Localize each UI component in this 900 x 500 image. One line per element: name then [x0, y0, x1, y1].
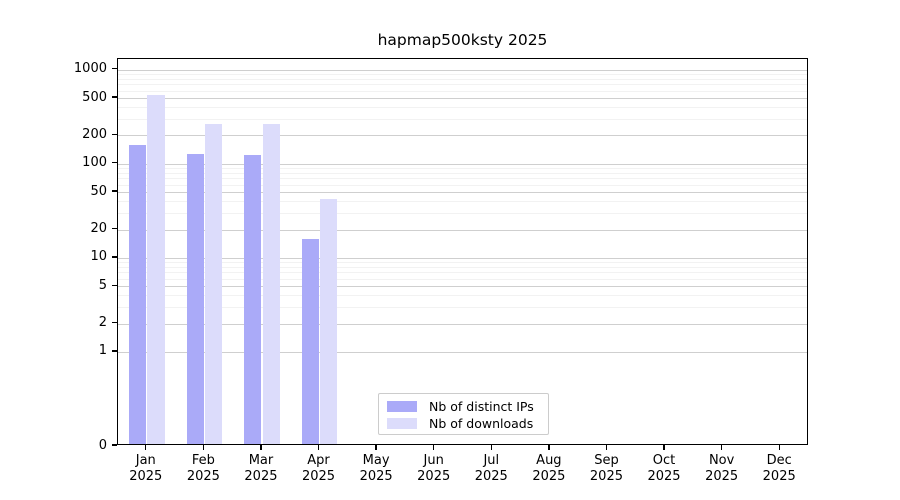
legend-item-label: Nb of distinct IPs: [429, 400, 534, 413]
bar-downloads: [320, 199, 337, 444]
legend-item-distinct-ips: Nb of distinct IPs: [387, 399, 540, 414]
y-axis-tick-label: 50: [59, 185, 107, 198]
y-axis-tick: [112, 190, 117, 191]
y-axis-label-wrap: 200: [55, 128, 107, 141]
x-axis-tick: [548, 445, 549, 450]
y-axis-label-wrap: 1000: [55, 62, 107, 75]
y-axis-tick-label: 500: [59, 91, 107, 104]
y-axis-tick: [112, 68, 117, 69]
y-axis-tick: [112, 256, 117, 257]
y-axis-tick: [112, 285, 117, 286]
bar-distinct-ips: [129, 145, 146, 444]
x-axis-tick: [779, 445, 780, 450]
y-axis-tick: [112, 134, 117, 135]
x-axis-tick: [318, 445, 319, 450]
x-axis-tick: [260, 445, 261, 450]
bar-downloads: [147, 95, 164, 444]
y-axis-label-wrap: 2: [55, 316, 107, 329]
x-axis-tick-year: 2025: [744, 469, 814, 485]
x-axis-tick: [721, 445, 722, 450]
x-axis-tick: [145, 445, 146, 450]
y-axis-label-wrap: 100: [55, 156, 107, 169]
y-axis-tick: [112, 228, 117, 229]
y-axis-tick-label: 1: [59, 344, 107, 357]
x-axis-tick: [491, 445, 492, 450]
bar-distinct-ips: [302, 239, 319, 444]
plot-area: [117, 58, 808, 445]
y-axis-tick: [112, 162, 117, 163]
x-axis-tick: [606, 445, 607, 450]
bars-layer: [118, 59, 807, 444]
y-axis-tick-label: 1000: [59, 62, 107, 75]
y-axis-label-wrap: 10: [55, 250, 107, 263]
legend-swatch-icon: [387, 401, 417, 412]
bar-downloads: [263, 124, 280, 444]
x-axis: Jan2025Feb2025Mar2025Apr2025May2025Jun20…: [0, 445, 900, 500]
y-axis-label-wrap: 5: [55, 279, 107, 292]
chart-legend: Nb of distinct IPs Nb of downloads: [378, 393, 549, 435]
y-axis-label-wrap: 1: [55, 344, 107, 357]
y-axis-label-wrap: 50: [55, 185, 107, 198]
bar-distinct-ips: [244, 155, 261, 444]
x-axis-tick: [433, 445, 434, 450]
y-axis-tick: [112, 96, 117, 97]
x-axis-tick: [203, 445, 204, 450]
x-axis-tick: [663, 445, 664, 450]
y-axis-tick-label: 20: [59, 222, 107, 235]
bar-downloads: [205, 124, 222, 444]
chart-container: hapmap500ksty 2025 012510205010020050010…: [0, 0, 900, 500]
legend-swatch-icon: [387, 418, 417, 429]
chart-title: hapmap500ksty 2025: [117, 30, 808, 50]
x-axis-tick: [375, 445, 376, 450]
y-axis-tick-label: 2: [59, 316, 107, 329]
y-axis-tick-label: 5: [59, 279, 107, 292]
y-axis-tick-label: 10: [59, 250, 107, 263]
y-axis-tick-label: 200: [59, 128, 107, 141]
y-axis-tick-label: 100: [59, 156, 107, 169]
y-axis-tick: [112, 322, 117, 323]
legend-item-downloads: Nb of downloads: [387, 416, 540, 431]
y-axis-label-wrap: 500: [55, 91, 107, 104]
bar-distinct-ips: [187, 154, 204, 444]
y-axis-label-wrap: 20: [55, 222, 107, 235]
y-axis: 01251020501002005001000: [0, 0, 117, 500]
x-axis-tick-month: Dec: [744, 453, 814, 469]
legend-item-label: Nb of downloads: [429, 417, 533, 430]
x-axis-tick-label: Dec2025: [744, 453, 814, 485]
y-axis-tick: [112, 350, 117, 351]
